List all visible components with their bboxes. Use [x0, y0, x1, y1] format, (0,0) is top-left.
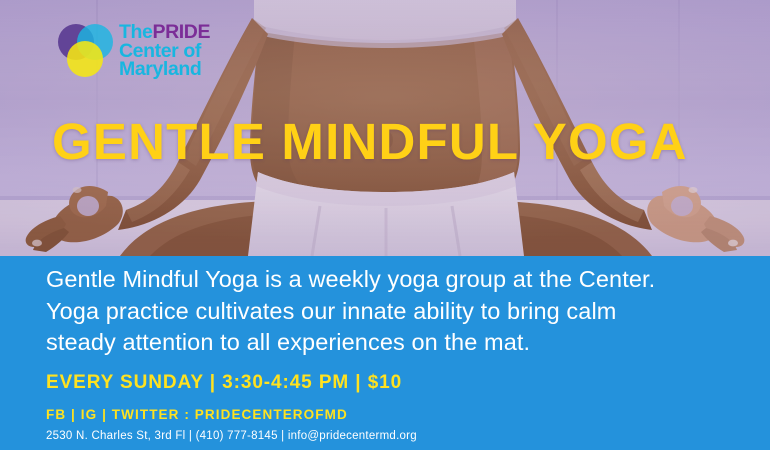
description-text: Gentle Mindful Yoga is a weekly yoga gro…: [46, 264, 736, 359]
page-title: GENTLE MINDFUL YOGA: [52, 112, 688, 171]
yoga-event-flyer: ThePRIDE Center of Maryland GENTLE MINDF…: [0, 0, 770, 450]
logo-line-1: ThePRIDE: [119, 23, 210, 42]
contact-info[interactable]: 2530 N. Charles St, 3rd Fl | (410) 777-8…: [46, 430, 417, 442]
logo-line-3: Maryland: [119, 60, 210, 79]
social-media-handles[interactable]: FB | IG | TWITTER : PRIDECENTEROFMD: [46, 407, 348, 422]
description-line-3: steady attention to all experiences on t…: [46, 327, 736, 359]
description-line-2: Yoga practice cultivates our innate abil…: [46, 296, 736, 328]
pride-center-logo-mark: [57, 22, 113, 80]
info-panel: Gentle Mindful Yoga is a weekly yoga gro…: [0, 256, 770, 450]
pride-center-logo-text: ThePRIDE Center of Maryland: [119, 23, 210, 80]
description-line-1: Gentle Mindful Yoga is a weekly yoga gro…: [46, 264, 736, 296]
pride-center-logo[interactable]: ThePRIDE Center of Maryland: [57, 22, 210, 80]
three-overlapping-circles-icon: [57, 22, 113, 80]
schedule-and-price: EVERY SUNDAY | 3:30-4:45 PM | $10: [46, 372, 402, 394]
